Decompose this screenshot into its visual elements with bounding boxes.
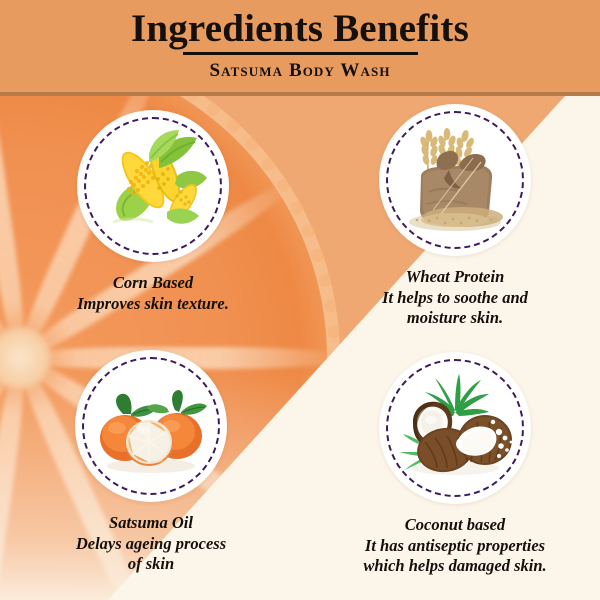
satsuma-oranges-icon <box>89 364 213 488</box>
ingredient-caption: Corn Based Improves skin texture. <box>28 273 278 314</box>
ingredients-benefits-poster: Ingredients Benefits Satsuma Body Wash <box>0 0 600 600</box>
ingredient-card-satsuma: Satsuma Oil Delays ageing process of ski… <box>26 350 276 575</box>
ingredient-card-wheat: Wheat Protein It helps to soothe and moi… <box>330 104 580 329</box>
ingredient-caption: Satsuma Oil Delays ageing process of ski… <box>26 513 276 575</box>
ingredient-caption: Coconut based It has antiseptic properti… <box>330 515 580 577</box>
ingredient-caption: Wheat Protein It helps to soothe and moi… <box>330 267 580 329</box>
ingredient-image-circle <box>75 350 227 502</box>
ingredient-image-circle <box>379 104 531 256</box>
title-underline <box>183 52 418 55</box>
coconut-halves-icon <box>393 366 517 490</box>
poster-header: Ingredients Benefits Satsuma Body Wash <box>0 0 600 96</box>
ingredient-card-corn: Corn Based Improves skin texture. <box>28 110 278 314</box>
corn-cobs-icon <box>91 124 215 248</box>
ingredient-image-circle <box>379 352 531 504</box>
page-title: Ingredients Benefits <box>0 6 600 52</box>
product-subtitle: Satsuma Body Wash <box>0 58 600 84</box>
ingredient-card-coconut: Coconut based It has antiseptic properti… <box>330 352 580 577</box>
ingredient-image-circle <box>77 110 229 262</box>
wheat-sack-icon <box>393 118 517 242</box>
header-divider <box>0 92 600 96</box>
